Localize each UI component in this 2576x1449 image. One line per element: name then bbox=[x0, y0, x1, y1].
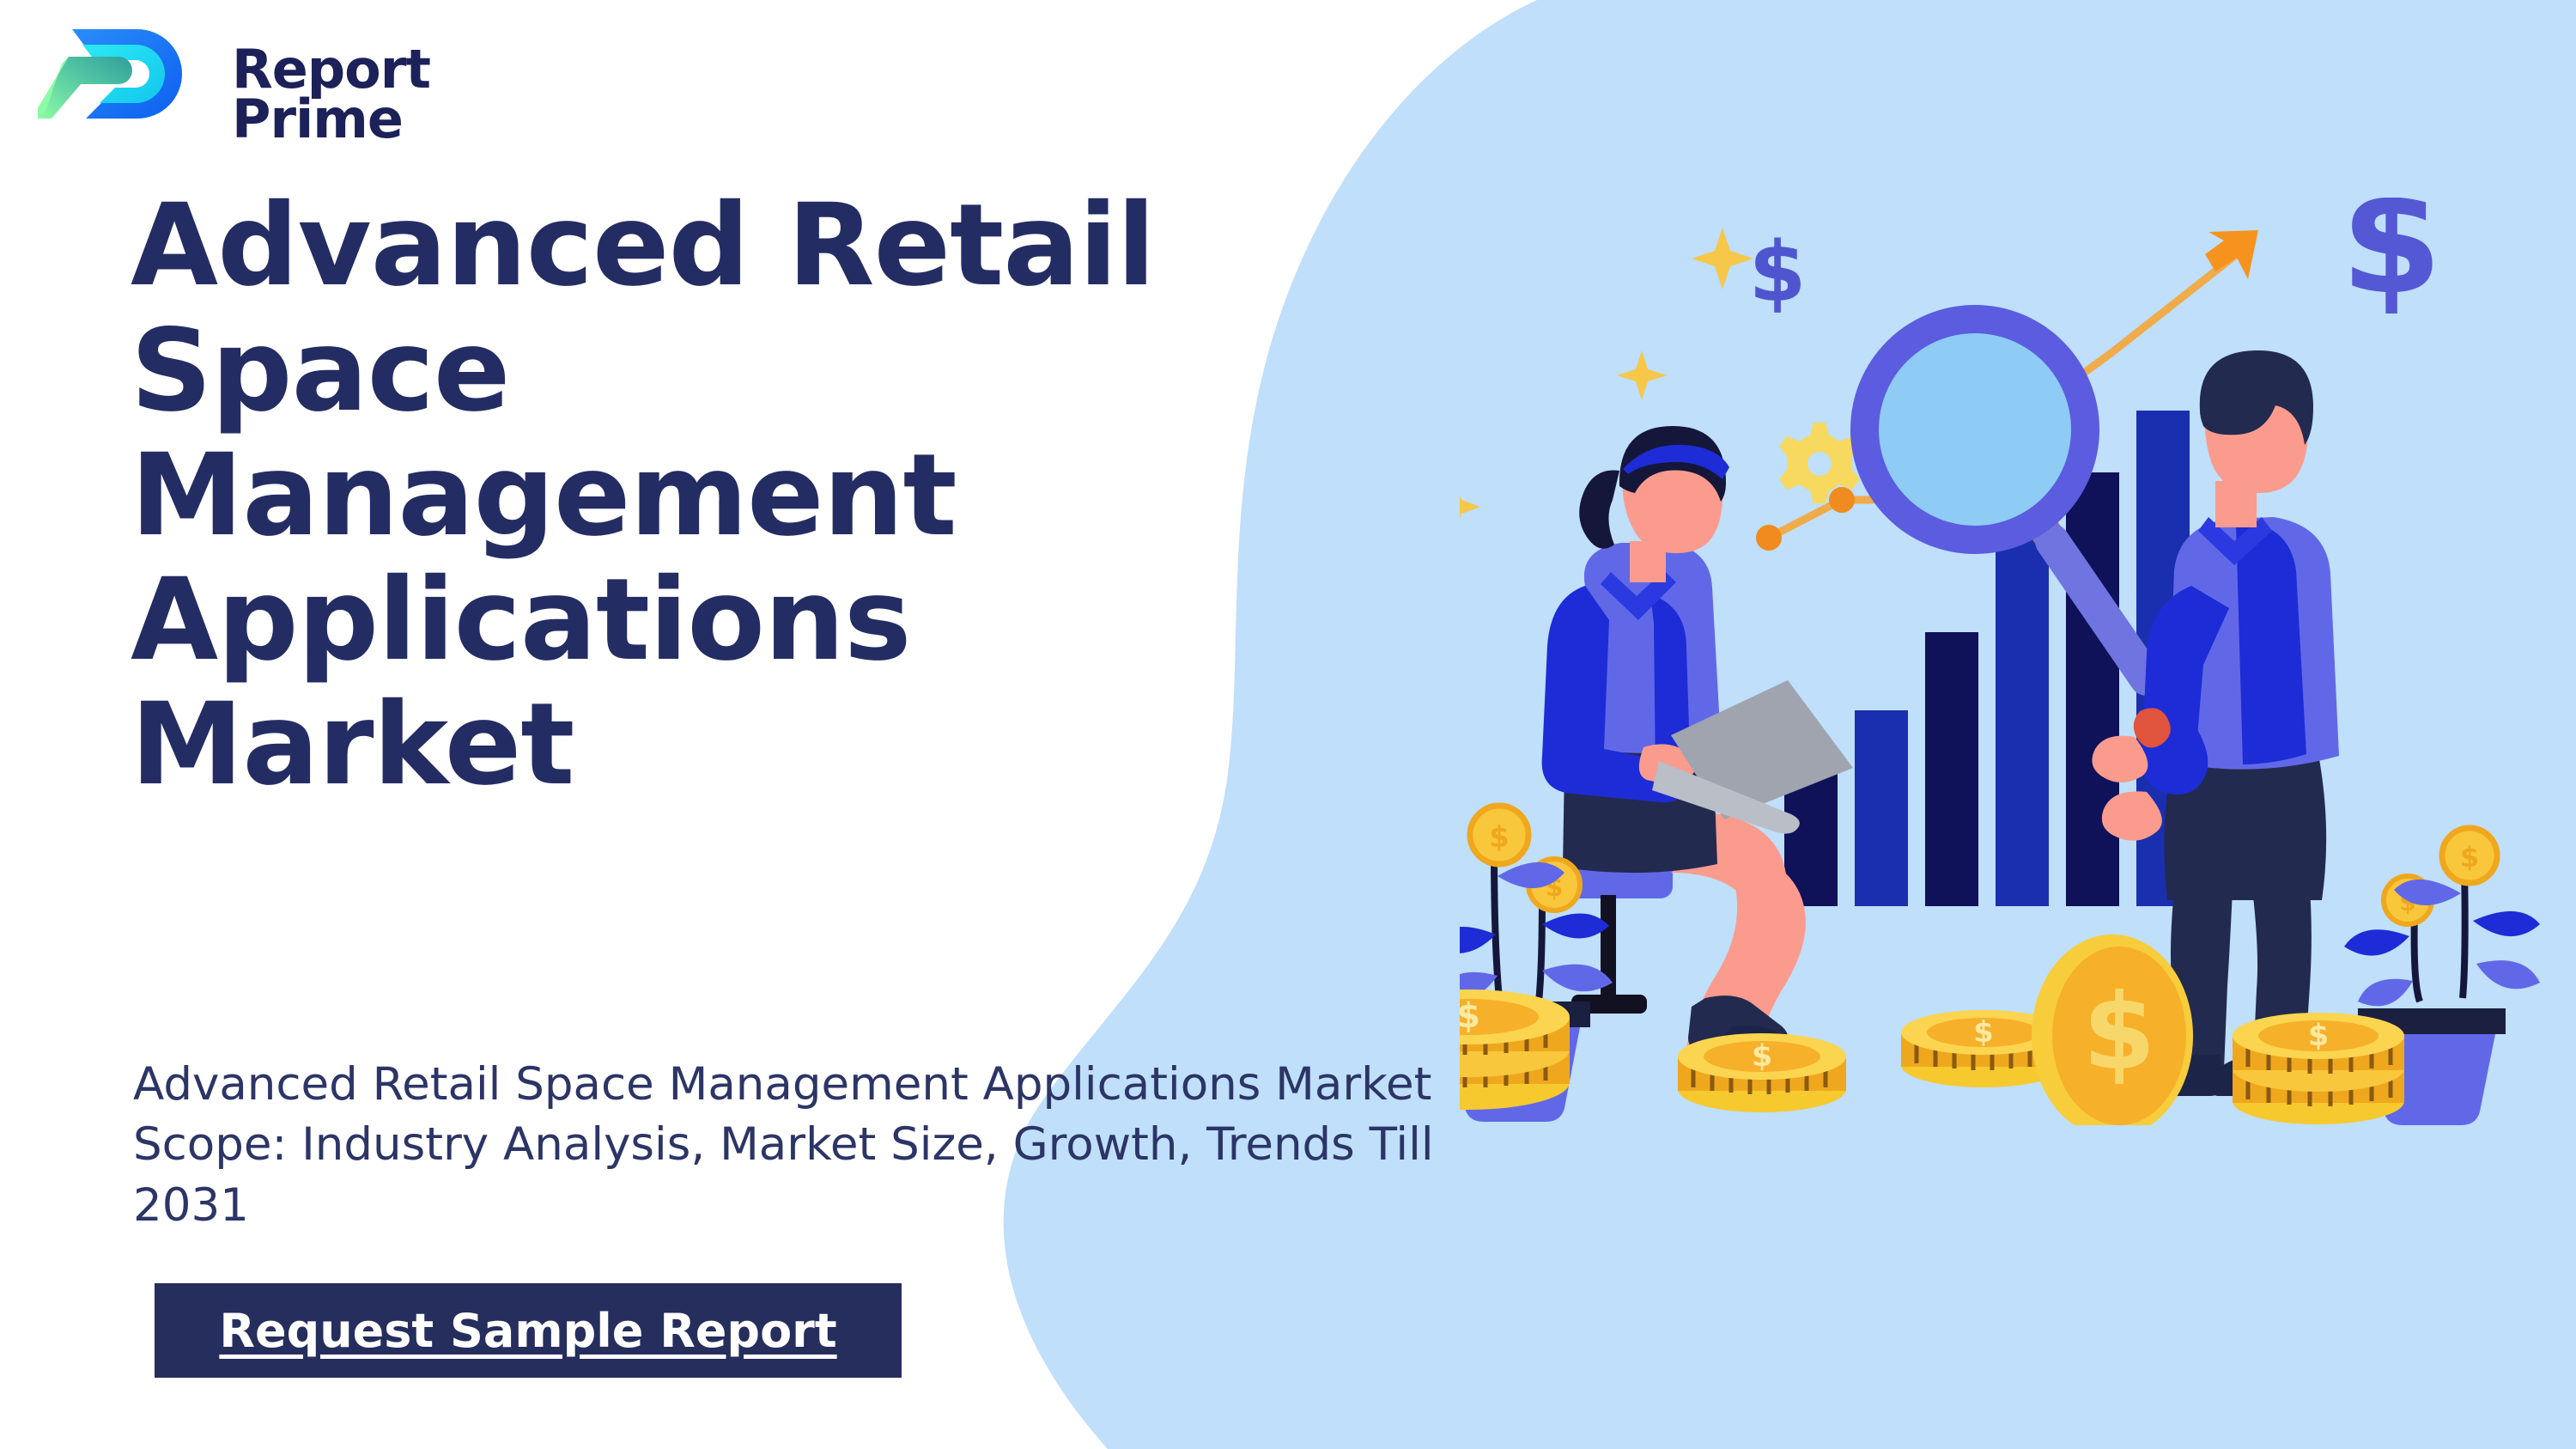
sparkle-icon bbox=[1460, 481, 1480, 533]
sparkle-icon bbox=[1692, 228, 1753, 289]
svg-text:$: $ bbox=[1460, 996, 1480, 1036]
coin-upright: $ bbox=[2032, 935, 2193, 1125]
poster-canvas: Report Prime Advanced Retail Space Manag… bbox=[0, 0, 2576, 1449]
market-analysis-illustration: $ $ bbox=[1460, 198, 2576, 1125]
dollar-sign-small-icon: $ bbox=[1749, 224, 1807, 320]
svg-text:$: $ bbox=[1489, 820, 1510, 855]
report-prime-r-logo-icon bbox=[36, 19, 234, 122]
brand-name-line1: Report bbox=[232, 45, 430, 94]
request-sample-report-label: Request Sample Report bbox=[219, 1304, 836, 1358]
coin-stack: $ bbox=[2233, 1013, 2404, 1124]
svg-text:$: $ bbox=[1973, 1015, 1994, 1050]
svg-text:$: $ bbox=[2308, 1019, 2329, 1053]
page-subtitle: Advanced Retail Space Management Applica… bbox=[133, 1055, 1541, 1236]
svg-text:$: $ bbox=[2083, 971, 2156, 1093]
sparkle-icon bbox=[1617, 350, 1667, 400]
svg-text:$: $ bbox=[2460, 841, 2479, 874]
brand-wordmark: Report Prime bbox=[232, 45, 430, 143]
brand-name-line2: Prime bbox=[232, 94, 430, 144]
request-sample-report-button[interactable]: Request Sample Report bbox=[155, 1283, 902, 1378]
dollar-sign-large-icon: $ bbox=[2341, 198, 2442, 327]
svg-text:$: $ bbox=[1752, 1039, 1772, 1074]
page-title: Advanced Retail Space Management Applica… bbox=[131, 184, 1273, 807]
brand-logo[interactable]: Report Prime bbox=[36, 19, 234, 122]
coin-stack: $ bbox=[1678, 1033, 1846, 1112]
